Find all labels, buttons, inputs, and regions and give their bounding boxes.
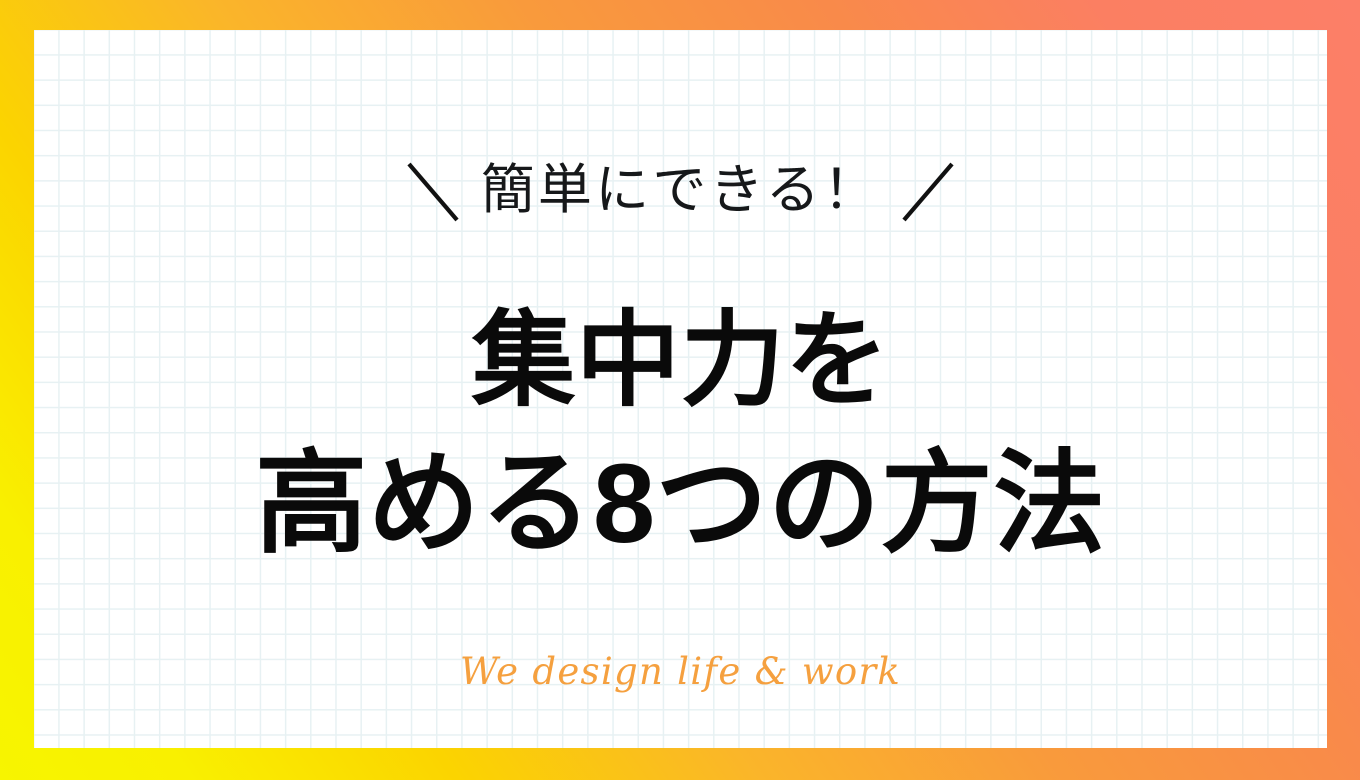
headline-line-1: 集中力を	[34, 292, 1327, 430]
page-title: 集中力を 高める8つの方法	[34, 292, 1327, 579]
eyebrow-text: 簡単にできる！	[481, 163, 881, 221]
backslash-decoration-icon	[405, 158, 461, 226]
grid-paper-panel: 簡単にできる！ 集中力を 高める8つの方法 We design life & w…	[34, 30, 1327, 748]
eyebrow-row: 簡単にできる！	[34, 158, 1327, 226]
poster-canvas: 簡単にできる！ 集中力を 高める8つの方法 We design life & w…	[0, 0, 1360, 780]
headline-line-2: 高める8つの方法	[34, 430, 1327, 579]
forward-slash-decoration-icon	[900, 158, 956, 226]
tagline-text: We design life & work	[34, 650, 1327, 693]
